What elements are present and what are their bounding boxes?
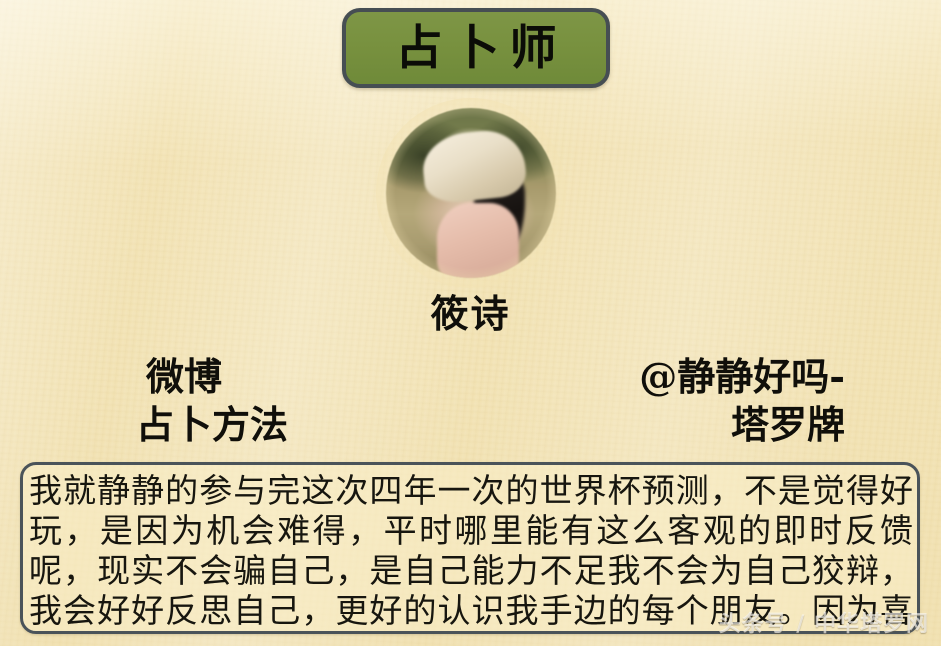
- profile-name: 筱诗: [0, 295, 941, 333]
- weibo-handle: @静静好吗-: [639, 358, 845, 396]
- info-row-method: 占卜方法 塔罗牌: [0, 404, 941, 448]
- avatar-body-shape: [437, 203, 519, 278]
- quote-box: 我就静静的参与完这次四年一次的世界杯预测，不是觉得好玩，是因为机会难得，平时哪里…: [20, 462, 920, 634]
- title-badge-label: 占卜师: [386, 25, 567, 72]
- avatar-photo: [386, 108, 556, 278]
- weibo-label: 微博: [146, 358, 222, 396]
- method-value: 塔罗牌: [731, 406, 845, 444]
- avatar-cloth-shape: [420, 127, 529, 205]
- method-label: 占卜方法: [136, 406, 288, 444]
- info-row-weibo: 微博 @静静好吗-: [0, 354, 941, 398]
- avatar: [386, 108, 556, 278]
- profile-card: 占卜师 筱诗 微博 @静静好吗- 占卜方法 塔罗牌 我就静静的参与完这次四年一次…: [0, 0, 941, 646]
- quote-text: 我就静静的参与完这次四年一次的世界杯预测，不是觉得好玩，是因为机会难得，平时哪里…: [29, 471, 913, 634]
- title-badge: 占卜师: [342, 8, 610, 88]
